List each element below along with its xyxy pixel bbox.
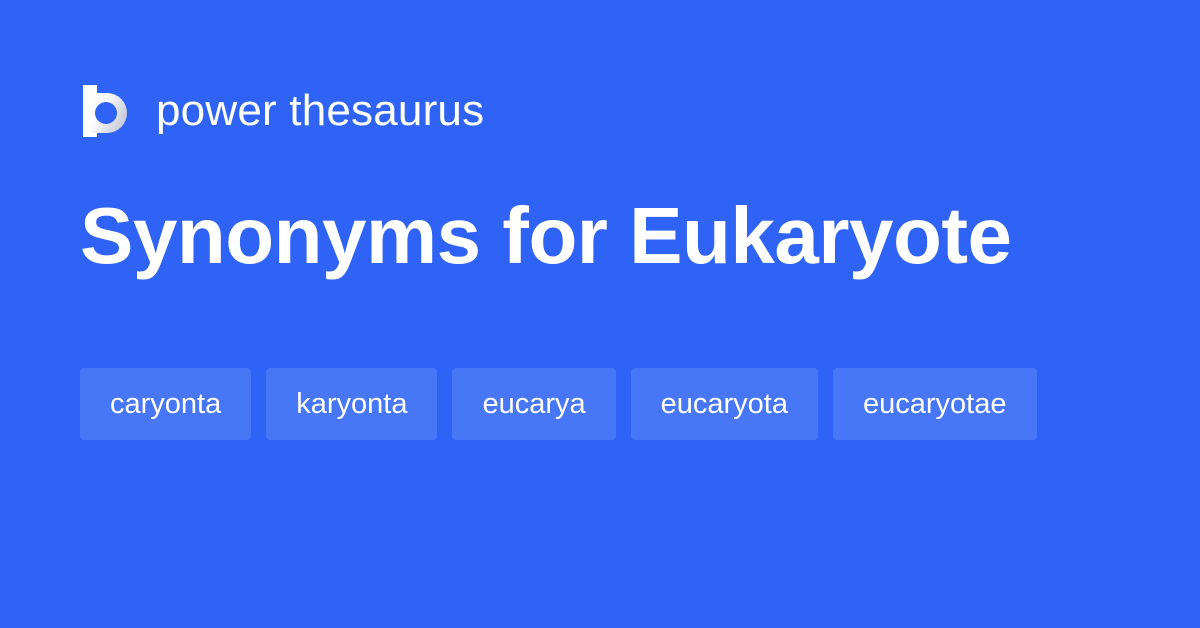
synonym-tag[interactable]: caryonta [80, 368, 251, 440]
synonym-tag[interactable]: eucarya [452, 368, 615, 440]
page-title: Synonyms for Eukaryote [80, 196, 1012, 276]
synonym-tag-list: caryonta karyonta eucarya eucaryota euca… [80, 368, 1120, 440]
synonym-tag[interactable]: karyonta [266, 368, 437, 440]
synonym-tag[interactable]: eucaryotae [833, 368, 1037, 440]
brand-lockup[interactable]: power thesaurus [80, 78, 484, 144]
brand-name: power thesaurus [156, 89, 484, 133]
synonym-tag[interactable]: eucaryota [631, 368, 818, 440]
power-thesaurus-b-logo-icon [80, 82, 130, 140]
social-share-card: power thesaurus Synonyms for Eukaryote c… [0, 0, 1200, 628]
